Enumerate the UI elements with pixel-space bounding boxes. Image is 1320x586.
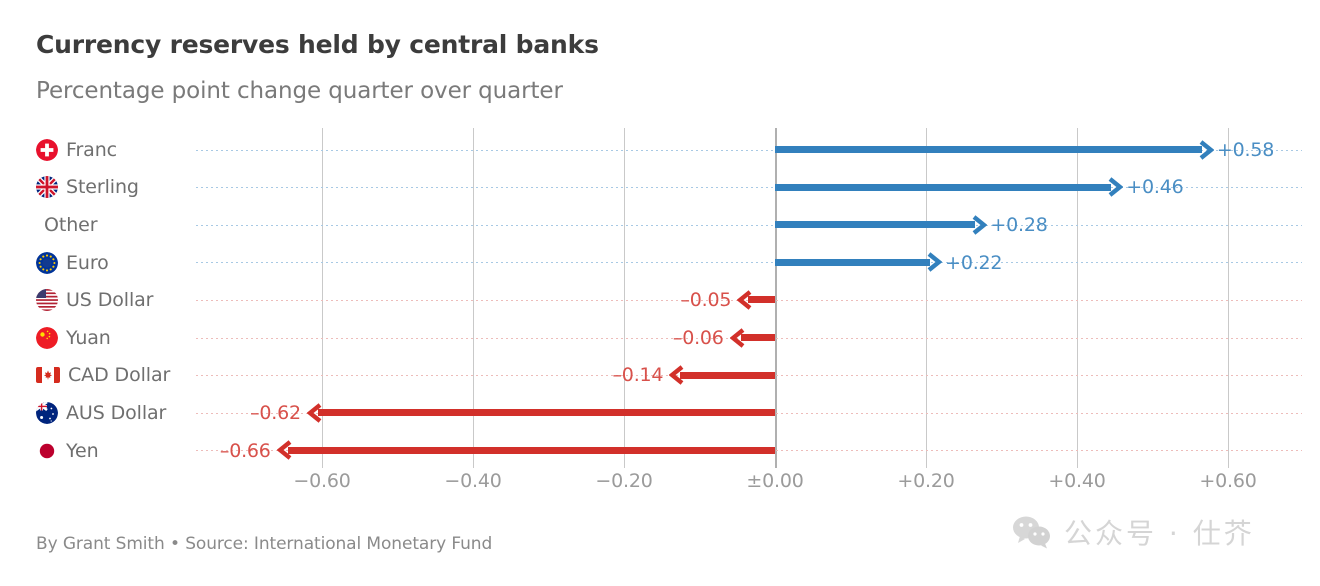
arrow-right-icon — [971, 213, 987, 237]
category-label: AUS Dollar — [66, 402, 166, 424]
value-label: –0.14 — [613, 357, 664, 395]
category-label-group: Euro — [36, 244, 109, 282]
chart-row: Franc+0.58 — [0, 131, 1320, 169]
plot-area: Franc+0.58Sterling+0.46Other+0.28Euro+0.… — [0, 128, 1320, 468]
arrow-left-icon — [730, 326, 746, 350]
category-label-group: Franc — [36, 131, 117, 169]
watermark: 公众号 · 仕芥 — [1012, 512, 1255, 552]
row-guide-line — [196, 225, 1302, 226]
category-label: Sterling — [66, 176, 139, 198]
chart-row: Sterling+0.46 — [0, 169, 1320, 207]
bar — [775, 184, 1111, 191]
category-label: Franc — [66, 139, 117, 161]
source-note: By Grant Smith • Source: International M… — [36, 534, 492, 554]
x-tick-label: +0.20 — [897, 470, 954, 492]
category-label-group: Other — [36, 206, 97, 244]
category-label: Other — [44, 214, 97, 236]
x-tick-label: ±0.00 — [746, 470, 803, 492]
x-tick-label: −0.20 — [595, 470, 652, 492]
value-label: +0.58 — [1217, 131, 1274, 169]
flag-japan-icon — [36, 440, 58, 462]
watermark-text: 公众号 · 仕芥 — [1064, 512, 1255, 552]
arrow-left-icon — [277, 438, 293, 462]
chart-row: CAD Dollar–0.14 — [0, 357, 1320, 395]
category-label-group: Yen — [36, 432, 99, 470]
x-tick-label: −0.40 — [444, 470, 501, 492]
chart-title: Currency reserves held by central banks — [36, 30, 599, 59]
flag-united-states-icon — [36, 289, 58, 311]
row-guide-line — [196, 262, 1302, 263]
category-label-group: US Dollar — [36, 281, 153, 319]
flag-switzerland-icon — [36, 139, 58, 161]
chart-row: Euro+0.22 — [0, 244, 1320, 282]
arrow-left-icon — [737, 288, 753, 312]
x-tick-label: +0.60 — [1199, 470, 1256, 492]
flag-european-union-icon — [36, 252, 58, 274]
value-label: –0.66 — [220, 432, 271, 470]
bar — [775, 146, 1202, 153]
chart-row: US Dollar–0.05 — [0, 281, 1320, 319]
x-tick-label: −0.60 — [293, 470, 350, 492]
chart-container: Currency reserves held by central banks … — [0, 0, 1320, 586]
value-label: –0.05 — [680, 281, 731, 319]
category-label: Euro — [66, 252, 109, 274]
arrow-left-icon — [307, 401, 323, 425]
category-label: Yuan — [66, 327, 111, 349]
x-axis: −0.60−0.40−0.20±0.00+0.20+0.40+0.60 — [0, 470, 1320, 504]
arrow-left-icon — [669, 363, 685, 387]
category-label: Yen — [66, 440, 99, 462]
bar — [680, 372, 775, 379]
category-label: US Dollar — [66, 289, 153, 311]
value-label: +0.28 — [990, 206, 1047, 244]
category-label-group: Yuan — [36, 319, 111, 357]
flag-china-icon — [36, 327, 58, 349]
chart-row: Yuan–0.06 — [0, 319, 1320, 357]
value-label: –0.06 — [673, 319, 724, 357]
chart-subtitle: Percentage point change quarter over qua… — [36, 78, 563, 104]
flag-united-kingdom-icon — [36, 176, 58, 198]
chart-row: AUS Dollar–0.62 — [0, 394, 1320, 432]
bar — [288, 447, 775, 454]
arrow-right-icon — [1198, 138, 1214, 162]
bar — [775, 221, 975, 228]
value-label: +0.22 — [945, 244, 1002, 282]
arrow-right-icon — [1107, 175, 1123, 199]
category-label-group: AUS Dollar — [36, 394, 166, 432]
flag-canada-icon — [36, 367, 60, 383]
chart-row: Yen–0.66 — [0, 432, 1320, 470]
category-label: CAD Dollar — [68, 364, 170, 386]
bar — [318, 409, 775, 416]
arrow-right-icon — [926, 250, 942, 274]
wechat-icon — [1012, 515, 1052, 549]
chart-row: Other+0.28 — [0, 206, 1320, 244]
x-tick-label: +0.40 — [1048, 470, 1105, 492]
flag-australia-icon — [36, 402, 58, 424]
category-label-group: CAD Dollar — [36, 357, 170, 395]
value-label: +0.46 — [1126, 169, 1183, 207]
bar — [775, 259, 930, 266]
bar — [741, 334, 775, 341]
value-label: –0.62 — [250, 394, 301, 432]
category-label-group: Sterling — [36, 169, 139, 207]
